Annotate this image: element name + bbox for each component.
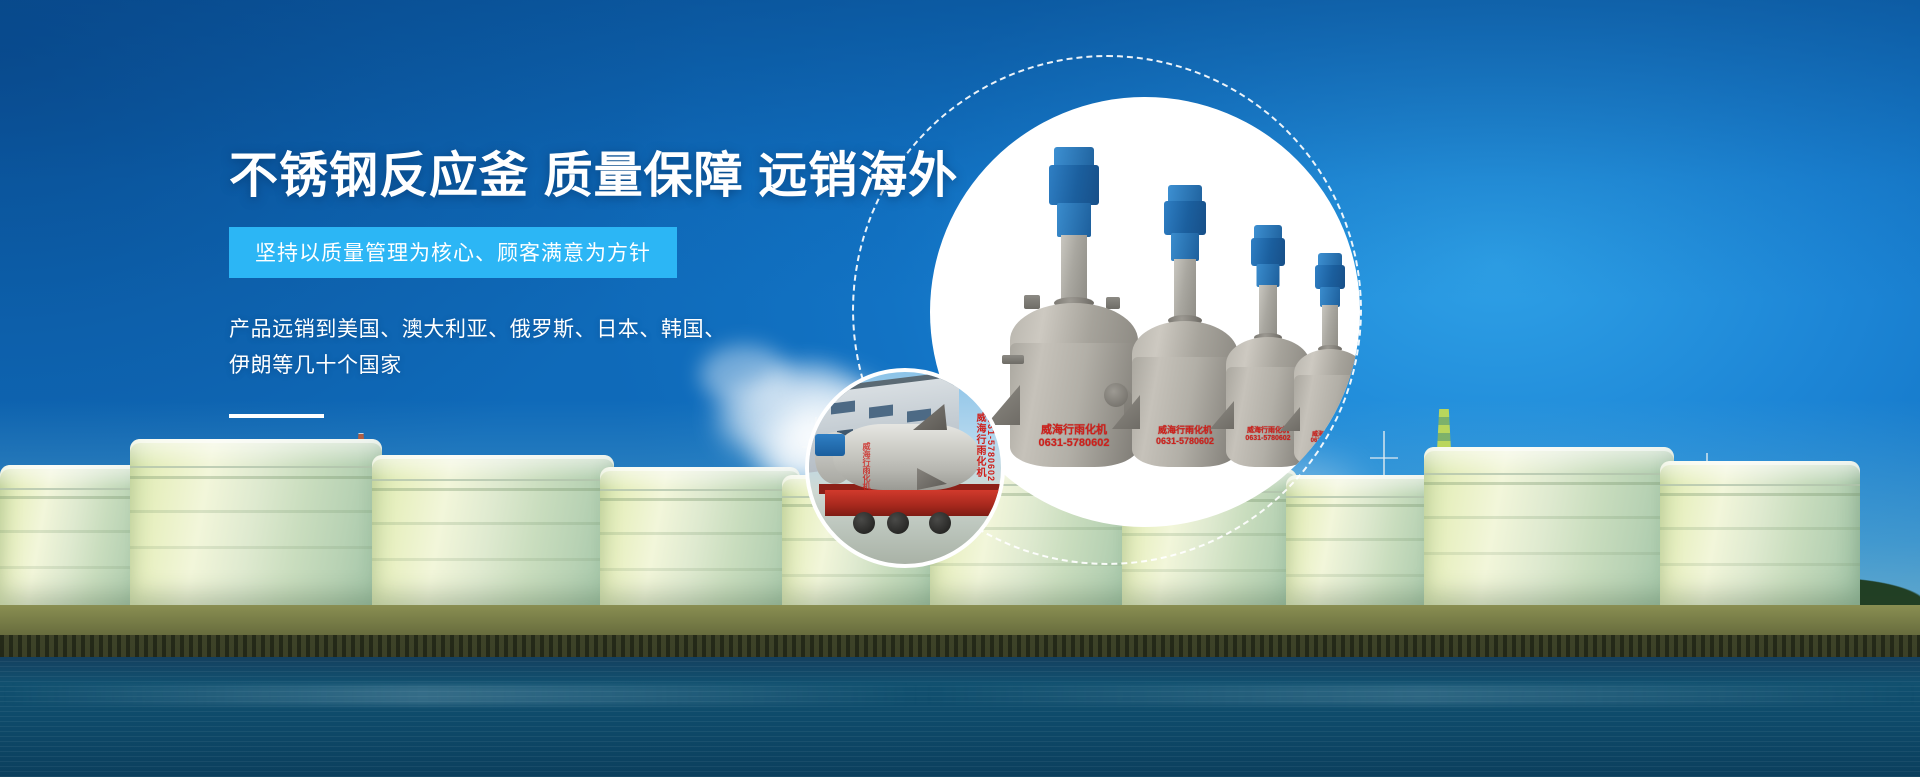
slogan-badge: 坚持以质量管理为核心、顾客满意为方针 [229, 227, 677, 278]
storage-tank [600, 467, 800, 607]
storage-tank [1660, 461, 1860, 607]
red-trailer [825, 490, 1005, 516]
quay-railing [0, 635, 1920, 657]
storage-tank [372, 455, 614, 607]
hero-banner: 威海行雨化机 0631-5780602 威海行雨化机 0631-5780602 [0, 0, 1920, 777]
reactor-unit: 威海行雨化机 0631-5780602 [1294, 211, 1360, 467]
reactor-brand-name: 威海行雨化机 [1312, 429, 1348, 438]
storage-tank [0, 465, 148, 607]
water-glint [0, 685, 1920, 705]
storage-tank [130, 439, 382, 607]
divider-rule [229, 414, 324, 418]
vessel-motor [815, 434, 845, 456]
vessel-brand-name: 威海行雨化机 [974, 412, 985, 478]
water-surface [0, 657, 1920, 777]
storage-tank [1424, 447, 1674, 607]
reactor-brand-name: 威海行雨化机 [1041, 421, 1107, 437]
vessel-brand-name-secondary: 威海行雨化机 [861, 442, 872, 490]
horizontal-vessel [833, 424, 981, 490]
vessel-brand-phone: 0631-5780602 [986, 412, 996, 482]
reactor-group: 威海行雨化机 0631-5780602 威海行雨化机 0631-5780602 [980, 137, 1320, 467]
page-title: 不锈钢反应釜 质量保障 远销海外 [229, 150, 989, 203]
description-text: 产品远销到美国、澳大利亚、俄罗斯、日本、韩国、伊朗等几十个国家 [229, 312, 729, 384]
reactor-brand-phone: 0631-5780602 [1039, 437, 1110, 449]
reactor-brand-phone: 0631-5780602 [1311, 438, 1350, 444]
product-photo-secondary: 威海行雨化机 0631-5780602 威海行雨化机 [805, 368, 1005, 568]
reactor-brand-phone: 0631-5780602 [1245, 435, 1290, 442]
reactor-unit: 威海行雨化机 0631-5780602 [1010, 147, 1138, 467]
trailer-wheel [853, 512, 875, 534]
trailer-wheel [929, 512, 951, 534]
storage-tank [1286, 475, 1440, 607]
reactor-brand-phone: 0631-5780602 [1156, 436, 1214, 446]
trailer-wheel [887, 512, 909, 534]
reactor-brand-name: 威海行雨化机 [1158, 423, 1212, 436]
